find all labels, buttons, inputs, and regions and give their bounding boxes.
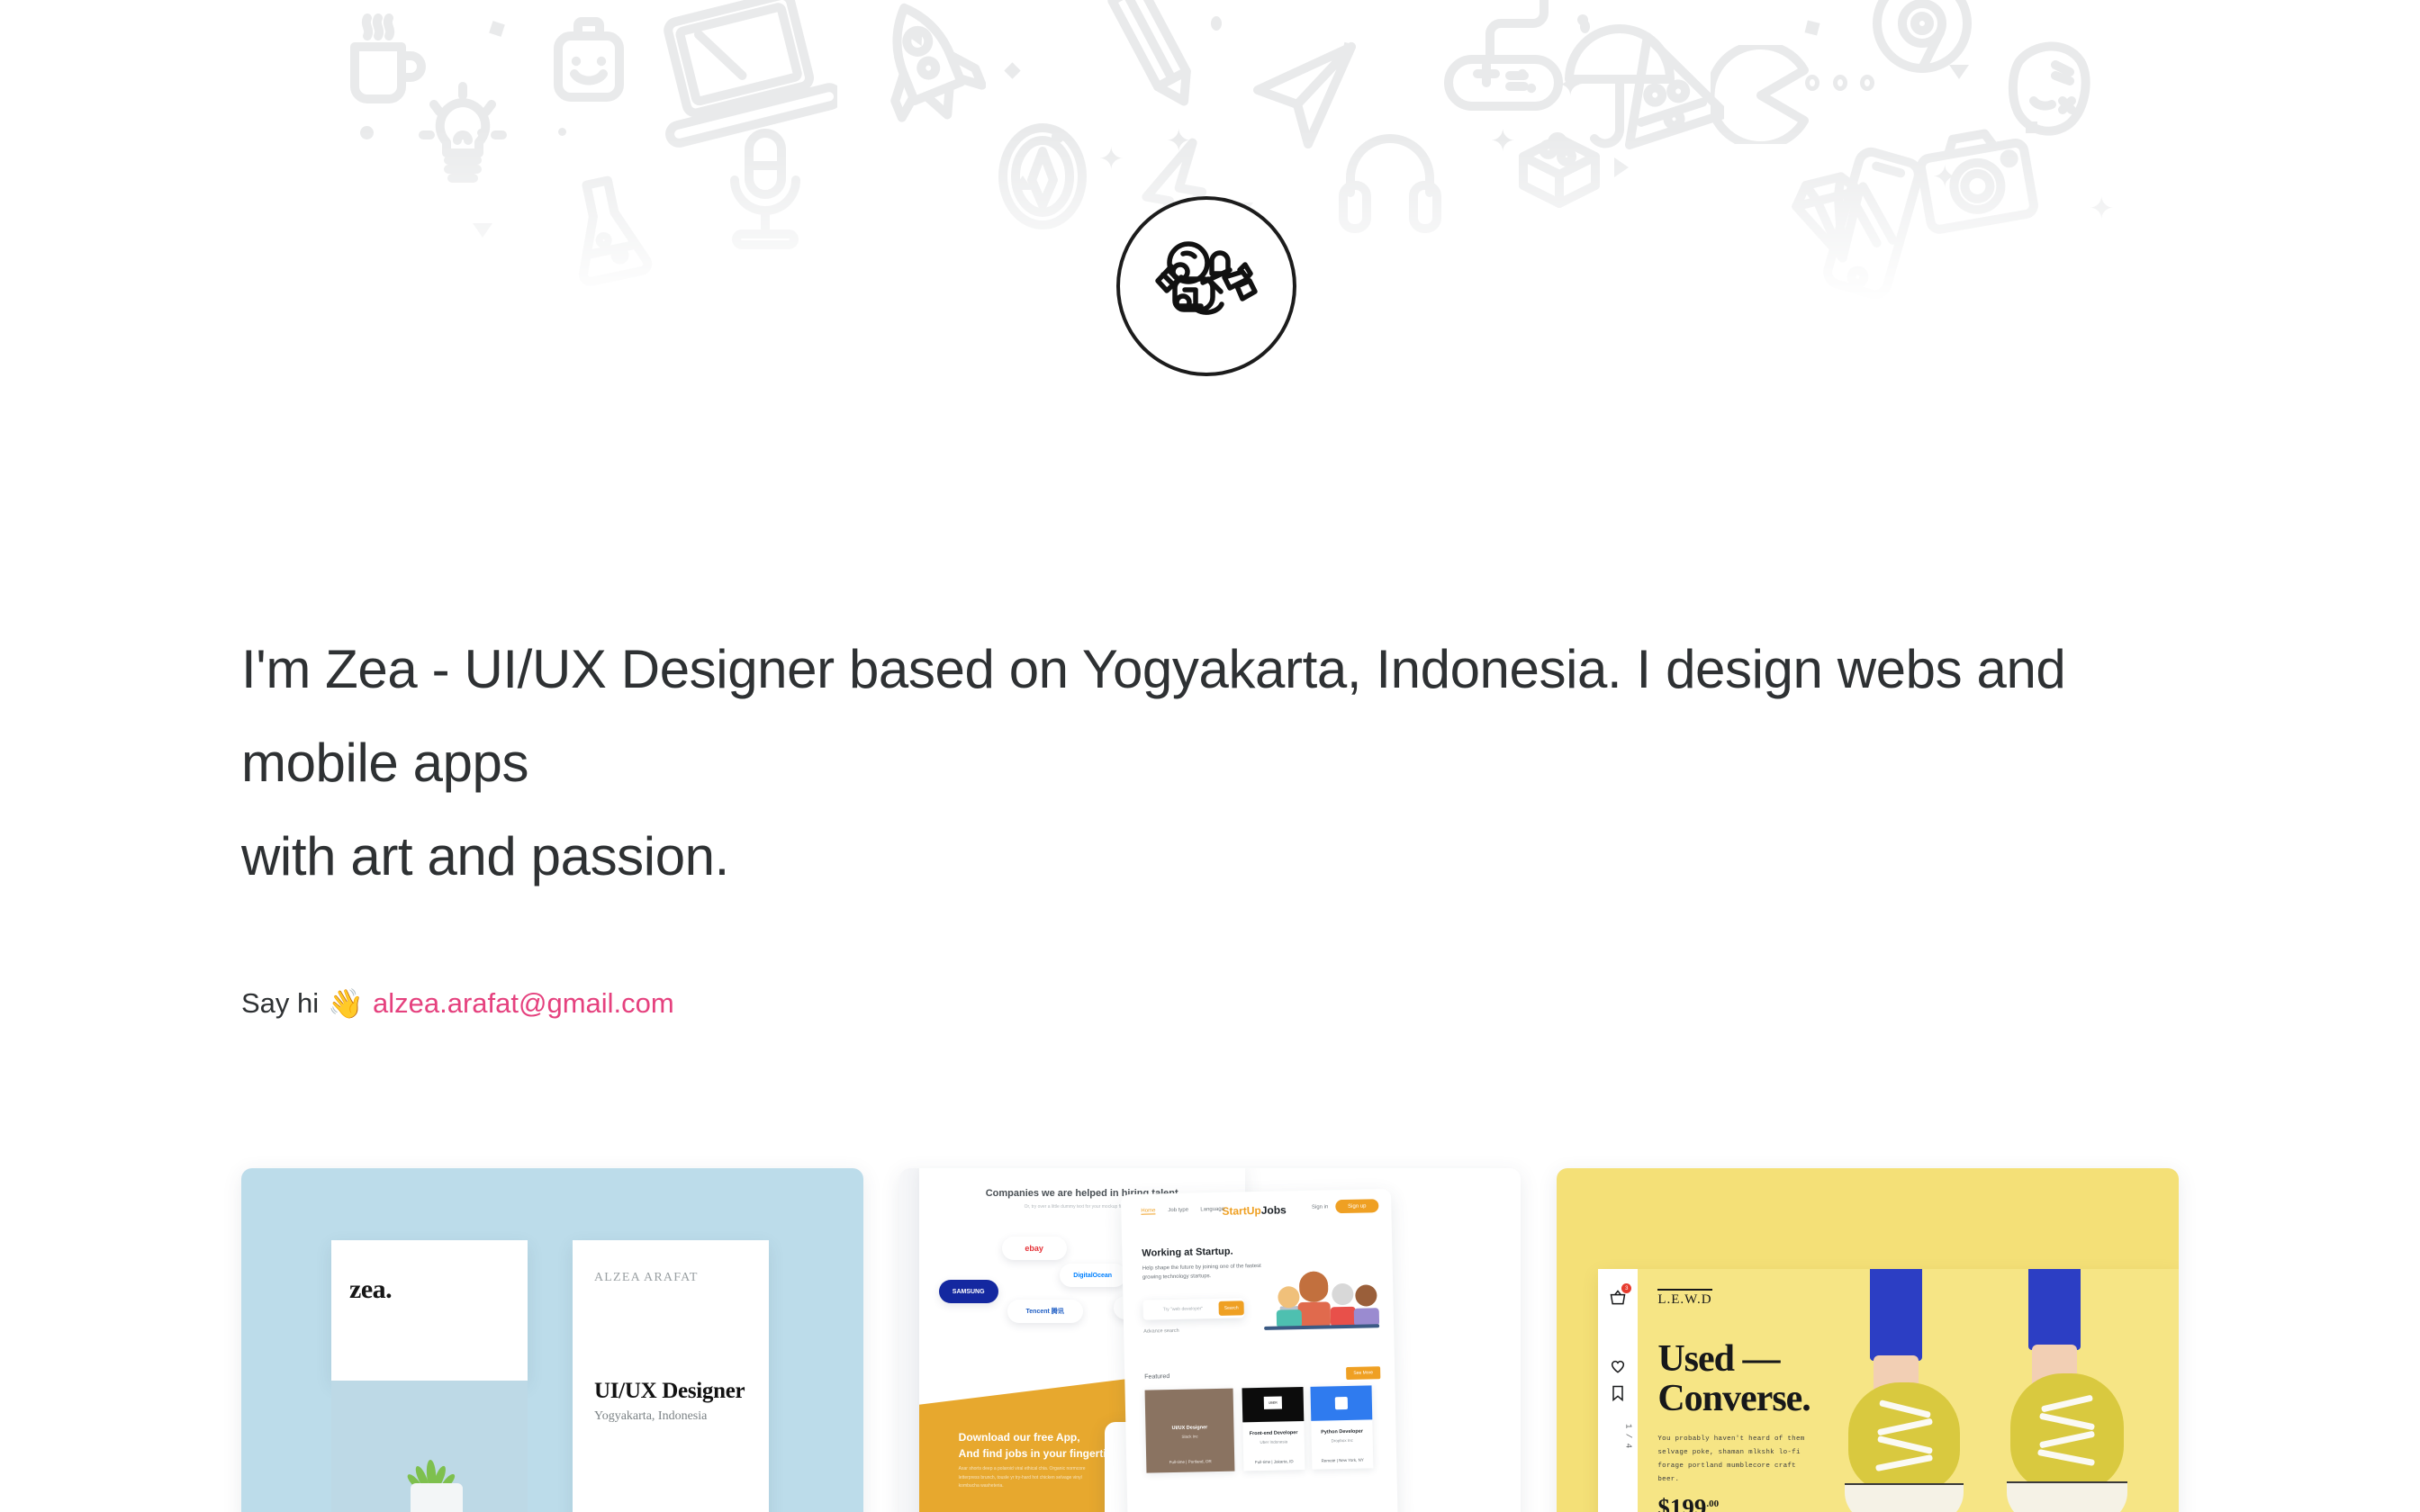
job-card[interactable]: UBER Front-end Developer Uber Indonesia …: [1242, 1387, 1305, 1471]
branding-card-front: [331, 1240, 528, 1381]
pacman-dot: [1860, 75, 1874, 91]
email-link[interactable]: alzea.arafat@gmail.com: [373, 986, 674, 1020]
gamepad-icon: [1436, 0, 1571, 122]
company-chip-samsung: SAMSUNG: [939, 1280, 998, 1303]
pacman-icon: [1711, 45, 1810, 144]
rocket-icon: [869, 0, 986, 131]
decor-triangle: [907, 26, 923, 47]
flask-icon: [558, 171, 657, 288]
decor-square: [1342, 42, 1355, 55]
decor-square: [489, 21, 505, 37]
nav-item-language[interactable]: Language: [1200, 1207, 1224, 1213]
company-chip-tencent: Tencent 腾讯: [1007, 1300, 1083, 1323]
product-price: $199.00: [1657, 1494, 1719, 1512]
download-body-text: Asar shorts deep a polaroid viral ethica…: [959, 1465, 1096, 1491]
star-icon: ✦: [1166, 126, 1192, 157]
pizza-slice-icon: [1607, 27, 1724, 153]
site-logo[interactable]: [1116, 196, 1296, 376]
product-brand: L.E.W.D: [1657, 1289, 1711, 1308]
laptop-icon: [648, 0, 837, 160]
logo-circle: [1116, 196, 1296, 376]
decor-dot: [1578, 16, 1588, 26]
product-page-mock: 3 1 / 4 L.E.W.D Used — Converse. You pro…: [1598, 1269, 2179, 1512]
star-icon: ✦: [1558, 70, 1584, 101]
company-chip-digitalocean: DigitalOcean: [1060, 1264, 1126, 1287]
star-icon: ✦: [1490, 126, 1516, 157]
compact-disc-icon: [1868, 0, 1976, 77]
astronaut-logo-icon: [1147, 227, 1266, 346]
sneakers-photo: [1823, 1269, 2179, 1512]
decor-dot: [558, 128, 566, 136]
project-gallery: zea. ALZEA ARAFAT UI/UX Designer Yogyaka…: [241, 1168, 2179, 1512]
decor-dot: [477, 129, 485, 137]
bookmark-icon[interactable]: [1609, 1384, 1627, 1402]
page-title: I'm Zea - UI/UX Designer based on Yogyak…: [241, 623, 2186, 904]
see-more-button[interactable]: See More: [1346, 1366, 1380, 1380]
decor-triangle: [1949, 65, 1969, 79]
signup-button[interactable]: Sign up: [1335, 1199, 1378, 1213]
plant-pot-photo: [403, 1458, 470, 1512]
decor-triangle: [1614, 157, 1629, 177]
job-card[interactable]: Python Developer Dropbox Inc Remote | Ne…: [1310, 1385, 1373, 1469]
project-card-lewd-converse[interactable]: 3 1 / 4 L.E.W.D Used — Converse. You pro…: [1557, 1168, 2179, 1512]
star-icon: ✦: [2089, 193, 2115, 224]
startupjobs-logo: StartUpJobs: [1222, 1203, 1287, 1217]
job-card[interactable]: UI/UX Designer Slack Inc Full-time | Por…: [1144, 1389, 1234, 1473]
job-search-button[interactable]: Search: [1218, 1300, 1243, 1316]
zea-logotype: zea.: [349, 1274, 392, 1305]
decor-dot: [360, 126, 374, 139]
site-hero-title: Working at Startup.: [1142, 1246, 1233, 1259]
microphone-icon: [711, 126, 819, 252]
star-icon: ✦: [1098, 144, 1124, 175]
person-name: ALZEA ARAFAT: [594, 1271, 699, 1285]
heart-icon[interactable]: [1609, 1357, 1627, 1375]
startupjobs-site-mock: StartUpJobs Sign up Home Job type Langua…: [1121, 1189, 1398, 1512]
download-heading-line1: Download our free App,: [959, 1431, 1080, 1444]
headphones-icon: [1332, 117, 1449, 234]
paper-plane-icon: [1247, 36, 1364, 153]
hero-content: I'm Zea - UI/UX Designer based on Yogyak…: [241, 623, 2186, 1020]
project-card-startup-jobs[interactable]: Companies we are helped in hiring talent…: [899, 1168, 1522, 1512]
star-icon: ✦: [1932, 162, 1958, 193]
decor-square: [1004, 62, 1020, 78]
nav-item-home[interactable]: Home: [1141, 1208, 1155, 1214]
pacman-dot: [1805, 75, 1820, 91]
person-location: Yogyakarta, Indonesia: [594, 1409, 707, 1424]
lightbulb-icon: [414, 81, 513, 189]
compass-icon: [989, 119, 1097, 236]
waving-hand-icon: 👋: [328, 989, 364, 1018]
contact-line: Say hi 👋 alzea.arafat@gmail.com: [241, 986, 2186, 1020]
product-description: You probably haven't heard of them selva…: [1657, 1433, 1809, 1487]
advance-search-toggle[interactable]: Advance search: [1143, 1328, 1179, 1335]
decor-triangle: [1013, 175, 1033, 190]
nav-item-jobtype[interactable]: Job type: [1168, 1208, 1188, 1213]
decor-square: [2026, 121, 2037, 133]
contact-prefix: Say hi: [241, 986, 319, 1020]
company-chip-ebay: ebay: [1002, 1237, 1067, 1260]
person-role: UI/UX Designer: [594, 1379, 745, 1404]
project-card-zea-branding[interactable]: zea. ALZEA ARAFAT UI/UX Designer Yogyaka…: [241, 1168, 863, 1512]
portfolio-page: ✦: [0, 0, 2420, 1512]
team-illustration: [1257, 1252, 1385, 1332]
featured-label: Featured: [1144, 1373, 1169, 1381]
product-title: Used — Converse.: [1657, 1339, 1810, 1418]
decor-dot: [1580, 20, 1590, 33]
decor-triangle: [473, 223, 492, 238]
coffee-mug-icon: [333, 7, 441, 115]
lego-brick-icon: [1505, 117, 1613, 225]
umbrella-icon: [1562, 18, 1679, 153]
lego-head-icon: [540, 13, 639, 112]
site-hero-desc: Help shape the future by joining one of …: [1142, 1262, 1268, 1282]
smartphone-icon: [1810, 144, 1936, 306]
signin-link[interactable]: Sign in: [1312, 1204, 1328, 1210]
diamond-icon: [1778, 162, 1886, 270]
camera-icon: [1913, 121, 2039, 238]
decor-dot: [1577, 14, 1588, 25]
download-heading-line2: And find jobs in your fingertips!: [959, 1447, 1123, 1460]
pacman-dot: [1833, 75, 1847, 91]
pencil-icon: [1103, 0, 1211, 122]
robot-face-icon: [1994, 29, 2102, 146]
decor-dot: [1052, 130, 1064, 143]
decor-square: [1805, 21, 1820, 36]
slide-counter: 1 / 4: [1603, 1424, 1632, 1448]
decor-dot: [1211, 16, 1222, 31]
